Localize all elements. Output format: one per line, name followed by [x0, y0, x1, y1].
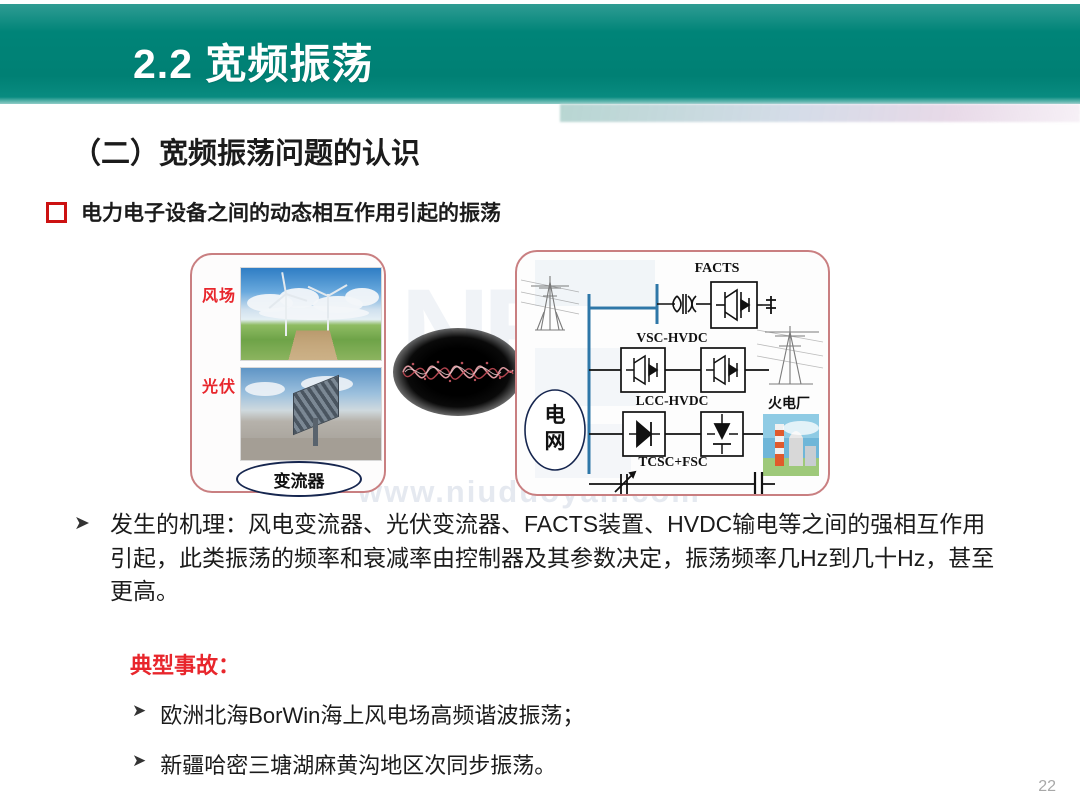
- svg-text:TCSC+FSC: TCSC+FSC: [638, 454, 707, 469]
- figure-area: 风场 光伏 变流器: [190, 250, 830, 498]
- svg-text:电: 电: [545, 404, 566, 427]
- mechanism-paragraph-text: 发生的机理：风电变流器、光伏变流器、FACTS装置、HVDC输电等之间的强相互作…: [110, 508, 1004, 609]
- accident-item-label: 新疆哈密三塘湖麻黄沟地区次同步振荡。: [160, 748, 556, 780]
- page-number: 22: [1038, 778, 1056, 796]
- left-panel-labels: 风场 光伏: [202, 273, 236, 397]
- mechanism-paragraph: ➤ 发生的机理：风电变流器、光伏变流器、FACTS装置、HVDC输电等之间的强相…: [74, 508, 1004, 609]
- oscillation-waveform-blob: [393, 328, 523, 416]
- label-wind-farm: 风场: [202, 289, 236, 306]
- page-title: 2.2 宽频振荡: [133, 30, 373, 90]
- arrow-bullet-icon: ➤: [132, 748, 146, 774]
- arrow-bullet-icon: ➤: [132, 698, 146, 724]
- svg-text:FACTS: FACTS: [695, 261, 740, 276]
- accident-section-title: 典型事故：: [130, 648, 240, 680]
- svg-text:网: 网: [545, 430, 566, 453]
- arrow-bullet-icon: ➤: [74, 510, 90, 538]
- left-source-panel: 风场 光伏 变流器: [190, 253, 386, 493]
- square-bullet-icon: [46, 202, 67, 223]
- list-item: ➤ 新疆哈密三塘湖麻黄沟地区次同步振荡。: [132, 748, 556, 780]
- power-system-schematic-panel: FACTS VSC-HVDC: [515, 250, 830, 496]
- bullet-item-square: 电力电子设备之间的动态相互作用引起的振荡: [46, 197, 501, 227]
- bullet-square-label: 电力电子设备之间的动态相互作用引起的振荡: [81, 197, 501, 227]
- svg-text:火电厂: 火电厂: [768, 395, 810, 411]
- label-photovoltaic: 光伏: [202, 380, 236, 397]
- section-heading: （二）宽频振荡问题的认识: [72, 130, 420, 172]
- photovoltaic-photo: [240, 367, 382, 461]
- svg-text:VSC-HVDC: VSC-HVDC: [636, 330, 707, 345]
- accident-item-label: 欧洲北海BorWin海上风电场高频谐波振荡；: [160, 698, 584, 730]
- slide: 2.2 宽频振荡 （二）宽频振荡问题的认识 电力电子设备之间的动态相互作用引起的…: [0, 0, 1080, 810]
- converter-oval-label: 变流器: [236, 461, 362, 497]
- svg-text:LCC-HVDC: LCC-HVDC: [636, 393, 709, 408]
- header-gradient-strip: [560, 104, 1080, 122]
- list-item: ➤ 欧洲北海BorWin海上风电场高频谐波振荡；: [132, 698, 584, 730]
- wind-farm-photo: [240, 267, 382, 361]
- slide-header: 2.2 宽频振荡: [0, 0, 1080, 112]
